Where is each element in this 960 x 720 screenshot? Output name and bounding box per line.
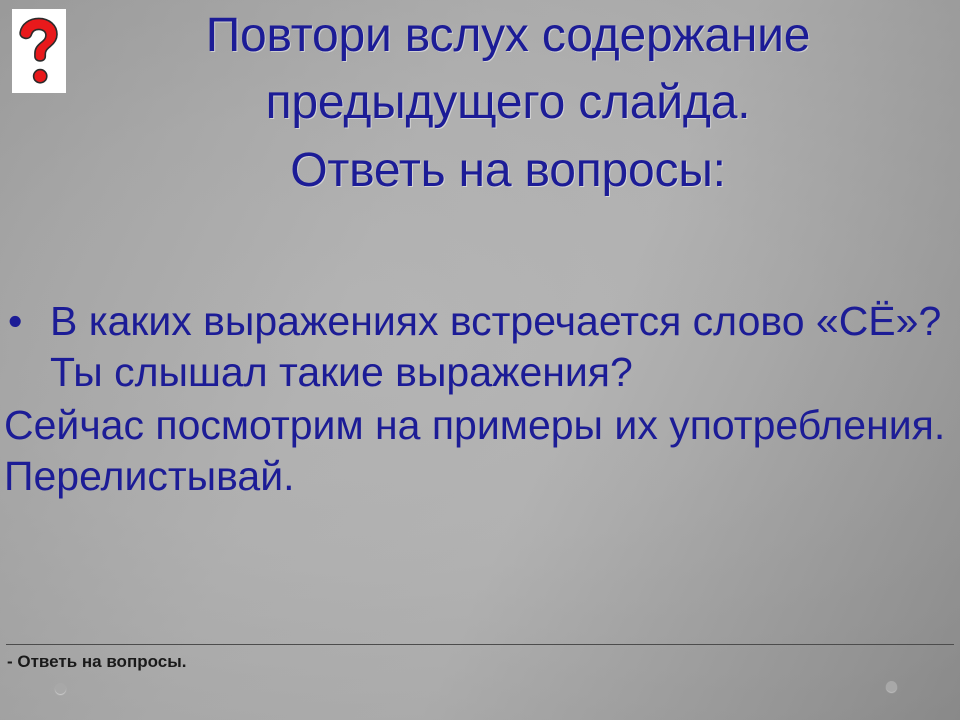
footer-note: - Ответь на вопросы.	[7, 650, 186, 674]
title-line-1: Повтори вслух содержание	[74, 2, 942, 69]
bullet-dot-icon: •	[8, 296, 50, 347]
footer-divider	[6, 644, 954, 645]
question-mark-icon	[17, 16, 61, 86]
decorative-dot-left	[55, 683, 66, 694]
bullet-list-item: • В каких выражениях встречается слово «…	[0, 296, 960, 398]
question-mark-illustration	[12, 9, 66, 93]
title-line-3: Ответь на вопросы:	[74, 137, 942, 204]
title-line-2: предыдущего слайда.	[74, 69, 942, 136]
bullet-item-text: В каких выражениях встречается слово «СЁ…	[50, 296, 960, 398]
decorative-dot-right	[886, 681, 897, 692]
slide-title: Повтори вслух содержание предыдущего сла…	[74, 2, 942, 204]
slide-canvas: Повтори вслух содержание предыдущего сла…	[0, 0, 960, 720]
body-paragraph: Сейчас посмотрим на примеры их употребле…	[0, 400, 960, 502]
slide-body: • В каких выражениях встречается слово «…	[0, 296, 960, 502]
